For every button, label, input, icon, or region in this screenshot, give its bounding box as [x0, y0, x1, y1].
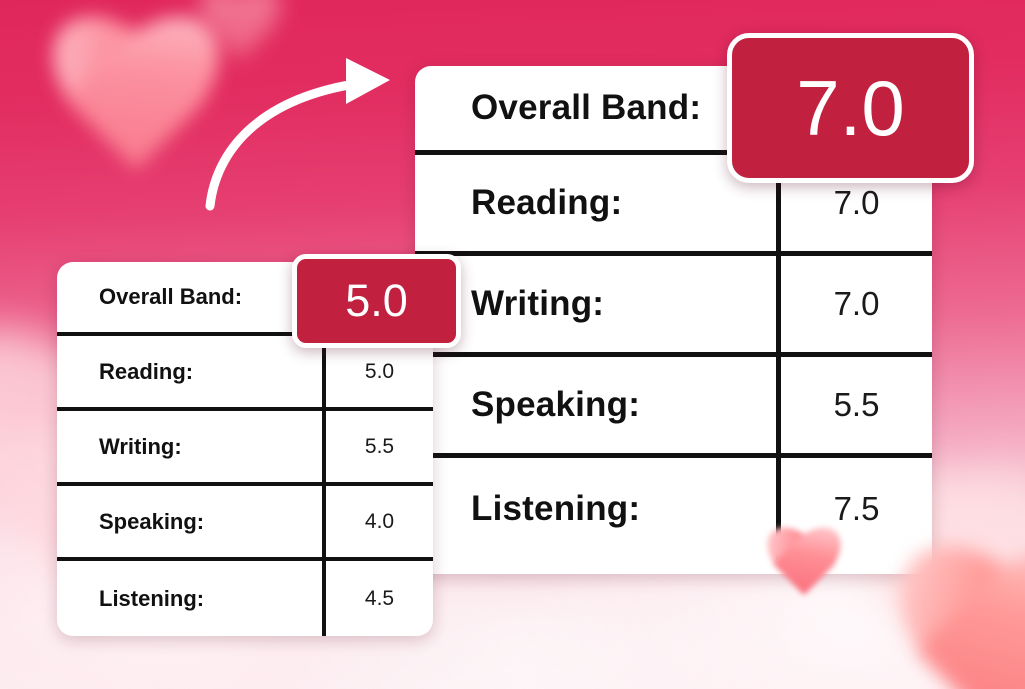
table-row: Writing: 7.0 [415, 256, 932, 357]
overall-band-badge-before: 5.0 [292, 254, 461, 348]
heart-icon-small-foreground [760, 528, 848, 612]
table-row: Speaking: 5.5 [415, 357, 932, 458]
poster-canvas: Overall Band: Reading: 7.0 Writing: 7.0 … [0, 0, 1025, 689]
reading-label: Reading: [57, 359, 322, 385]
listening-label: Listening: [415, 489, 776, 529]
writing-label: Writing: [415, 284, 776, 324]
curved-arrow-icon [196, 56, 406, 216]
speaking-value: 4.0 [322, 486, 433, 557]
table-row: Writing: 5.5 [57, 411, 433, 486]
table-row: Speaking: 4.0 [57, 486, 433, 561]
table-row: Listening: 4.5 [57, 561, 433, 636]
speaking-label: Speaking: [57, 509, 322, 535]
listening-label: Listening: [57, 586, 322, 612]
writing-value: 5.5 [322, 411, 433, 482]
speaking-value: 5.5 [776, 357, 932, 453]
listening-value: 4.5 [322, 561, 433, 636]
speaking-label: Speaking: [415, 385, 776, 425]
writing-value: 7.0 [776, 256, 932, 352]
table-row: Listening: 7.5 [415, 458, 932, 559]
overall-band-badge-after: 7.0 [727, 33, 974, 183]
reading-label: Reading: [415, 183, 776, 223]
writing-label: Writing: [57, 434, 322, 460]
heart-icon-large-foreground [880, 548, 1025, 689]
